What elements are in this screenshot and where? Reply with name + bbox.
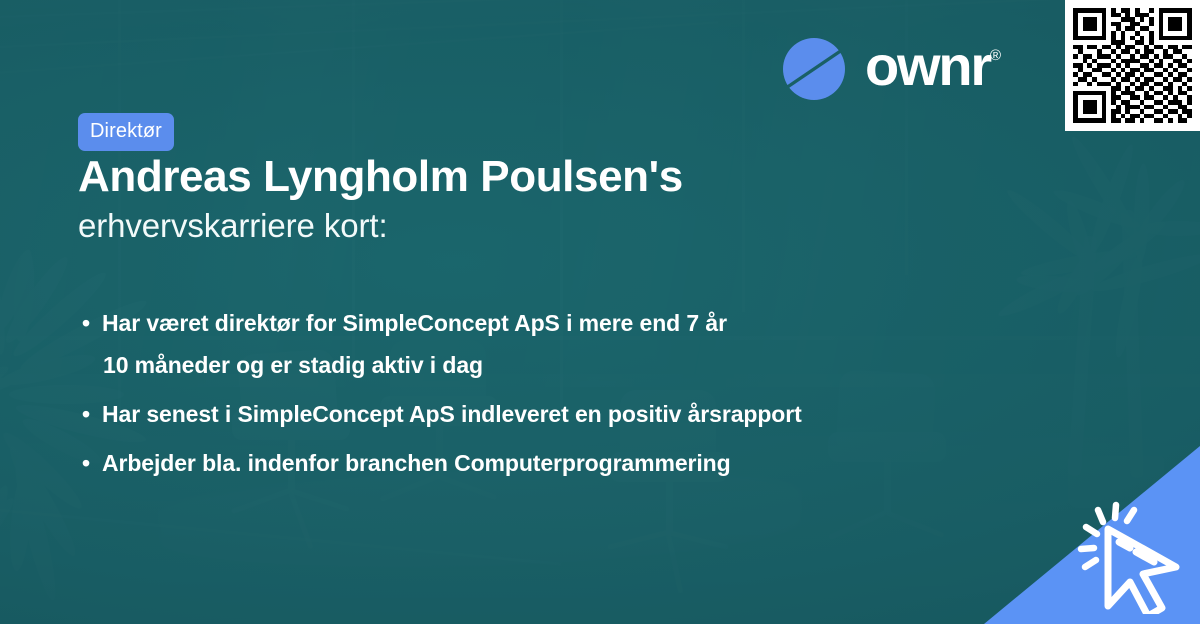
list-item-text: Arbejder bla. indenfor branchen Computer… [102, 450, 731, 476]
ownr-circle-swoosh-icon [781, 36, 847, 102]
list-item-text: Har senest i SimpleConcept ApS indlevere… [102, 401, 802, 427]
page-subtitle: erhvervskarriere kort: [78, 207, 388, 246]
qr-module [1187, 118, 1192, 123]
page-title: Andreas Lyngholm Poulsen's [78, 152, 683, 201]
list-item: Arbejder bla. indenfor branchen Computer… [80, 452, 980, 475]
card-content: Direktør Andreas Lyngholm Poulsen's erhv… [0, 0, 1200, 624]
list-item-text: Har været direktør for SimpleConcept ApS… [102, 310, 727, 336]
ownr-wordmark: ownr [865, 38, 990, 94]
list-item-text-continued: 10 måneder og er stadig aktiv i dag [102, 354, 980, 377]
ownr-logo[interactable]: ownr [781, 36, 990, 102]
qr-code-grid [1073, 8, 1192, 123]
career-highlights-list: Har været direktør for SimpleConcept ApS… [80, 312, 980, 475]
click-cursor-icon [1070, 496, 1192, 614]
registered-trademark-symbol: ® [990, 48, 1001, 63]
career-card: Direktør Andreas Lyngholm Poulsen's erhv… [0, 0, 1200, 624]
list-item: Har været direktør for SimpleConcept ApS… [80, 312, 980, 377]
qr-code-icon[interactable] [1065, 0, 1200, 131]
list-item: Har senest i SimpleConcept ApS indlevere… [80, 403, 980, 426]
role-badge: Direktør [78, 113, 174, 151]
